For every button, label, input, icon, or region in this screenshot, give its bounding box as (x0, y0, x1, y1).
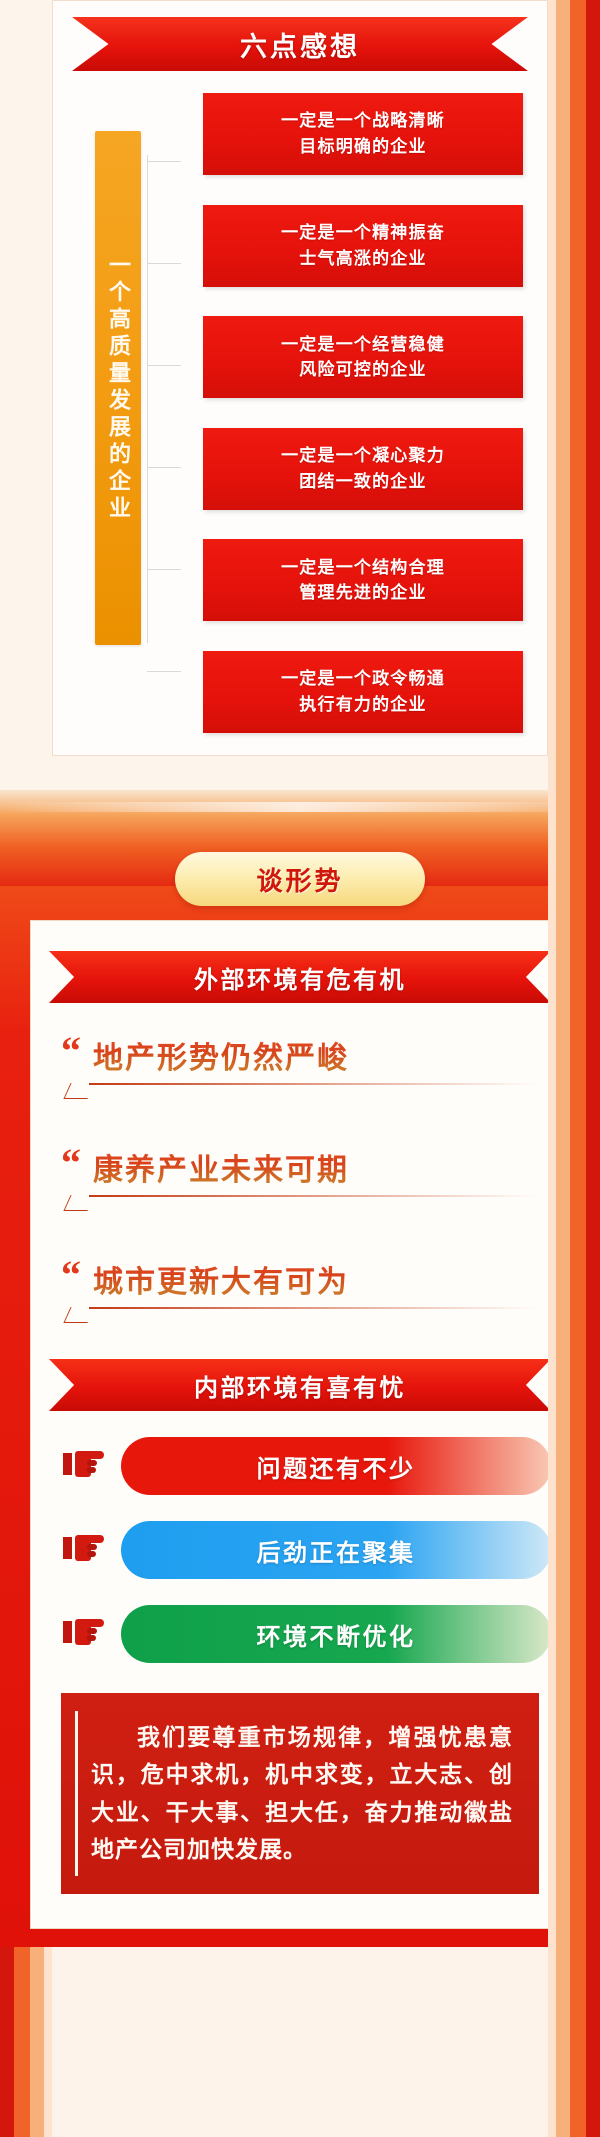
connector-twig-1 (147, 161, 181, 162)
reflection-item-list: 一定是一个战略清晰 目标明确的企业 一定是一个精神振奋 士气高涨的企业 一定是一… (199, 93, 523, 733)
reflection-item-line2: 风险可控的企业 (299, 360, 426, 380)
reflection-item-line2: 管理先进的企业 (299, 583, 426, 603)
pointing-hand-icon (63, 1615, 107, 1654)
quote-underline (63, 1307, 551, 1325)
banner-ribbon-shape: 六点感想 (72, 17, 528, 71)
quality-enterprise-tree: 一个高质量发展的企业 一定是一个战略清晰 目标明确的企业 (53, 93, 547, 733)
quote-mark-icon: “ (61, 1255, 81, 1295)
closing-statement-text: 我们要尊重市场规律，增强忧患意识，危中求机，机中求变，立大志、创大业、干大事、担… (91, 1719, 513, 1868)
section-one-title: 六点感想 (240, 25, 360, 64)
connector-twig-2 (147, 263, 181, 264)
quote-underline-bar (89, 1195, 537, 1197)
reflection-item[interactable]: 一定是一个政令畅通 执行有力的企业 (203, 651, 523, 733)
section-two-title: 谈形势 (256, 861, 343, 898)
internal-banner-shape: 内部环境有喜有忧 (49, 1359, 551, 1411)
section-situation: 谈形势 外部环境有危有机 “ 地产形势仍然严峻 (0, 886, 600, 1947)
tag-row: 问题还有不少 (49, 1437, 551, 1495)
external-banner-shape: 外部环境有危有机 (49, 951, 551, 1003)
quote-block: “ 康养产业未来可期 (49, 1125, 551, 1221)
quote-text: 地产形势仍然严峻 (93, 1033, 349, 1077)
quote-underline-hook (63, 1307, 94, 1323)
closing-statement-card: 我们要尊重市场规律，增强忧患意识，危中求机，机中求变，立大志、创大业、干大事、担… (61, 1693, 539, 1894)
section-six-reflections: 六点感想 一个高质量发展的企业 一定是一个战略清晰 (0, 0, 600, 790)
internal-environment-title: 内部环境有喜有忧 (194, 1368, 406, 1403)
reflection-item[interactable]: 一定是一个战略清晰 目标明确的企业 (203, 93, 523, 175)
quote-underline-bar (89, 1083, 537, 1085)
quote-text: 城市更新大有可为 (93, 1257, 349, 1301)
internal-environment-banner: 内部环境有喜有忧 (49, 1359, 551, 1411)
quote-mark-icon: “ (61, 1031, 81, 1071)
connector-twig-5 (147, 569, 181, 570)
pointing-hand-icon (63, 1531, 107, 1570)
quote-line: “ 地产形势仍然严峻 (61, 1033, 551, 1077)
section-two-pill-header: 谈形势 (175, 852, 425, 906)
quote-line: “ 城市更新大有可为 (61, 1257, 551, 1301)
divider-sheen (0, 802, 600, 812)
quote-underline (63, 1195, 551, 1213)
quote-line: “ 康养产业未来可期 (61, 1145, 551, 1189)
reflection-item-line2: 目标明确的企业 (299, 137, 426, 157)
reflection-item-line1: 一定是一个结构合理 (281, 558, 445, 578)
quote-underline (63, 1083, 551, 1101)
reflection-item-line2: 执行有力的企业 (299, 695, 426, 715)
pointing-hand-icon (63, 1447, 107, 1486)
external-environment-title: 外部环境有危有机 (194, 960, 406, 995)
connector-twig-6 (147, 671, 181, 672)
closing-accent-bar (75, 1711, 78, 1876)
connector-twig-3 (147, 365, 181, 366)
reflection-item-line1: 一定是一个战略清晰 (281, 111, 445, 131)
tag-row: 环境不断优化 (49, 1605, 551, 1663)
reflection-item-line2: 士气高涨的企业 (299, 249, 426, 269)
quote-block: “ 城市更新大有可为 (49, 1237, 551, 1333)
connector-twig-4 (147, 467, 181, 468)
tag-pill-environment[interactable]: 环境不断优化 (121, 1605, 551, 1663)
reflection-item[interactable]: 一定是一个精神振奋 士气高涨的企业 (203, 205, 523, 287)
reflection-item-line2: 团结一致的企业 (299, 472, 426, 492)
section-one-banner: 六点感想 (72, 17, 528, 71)
quote-underline-hook (63, 1083, 94, 1099)
tag-row: 后劲正在聚集 (49, 1521, 551, 1579)
vertical-label-quality-enterprise: 一个高质量发展的企业 (95, 131, 141, 645)
tree-connector-lines (141, 123, 199, 673)
quote-text: 康养产业未来可期 (93, 1145, 349, 1189)
quote-underline-bar (89, 1307, 537, 1309)
tag-pill-problems[interactable]: 问题还有不少 (121, 1437, 551, 1495)
reflection-item-line1: 一定是一个精神振奋 (281, 223, 445, 243)
section-two-panel: 外部环境有危有机 “ 地产形势仍然严峻 “ 康养产业未来可期 (30, 920, 570, 1929)
reflection-item-line1: 一定是一个凝心聚力 (281, 446, 445, 466)
section-one-panel: 六点感想 一个高质量发展的企业 一定是一个战略清晰 (52, 0, 548, 756)
quote-mark-icon: “ (61, 1143, 81, 1183)
reflection-item[interactable]: 一定是一个凝心聚力 团结一致的企业 (203, 428, 523, 510)
quote-underline-hook (63, 1195, 94, 1211)
reflection-item[interactable]: 一定是一个经营稳健 风险可控的企业 (203, 316, 523, 398)
external-environment-banner: 外部环境有危有机 (49, 951, 551, 1003)
quote-block: “ 地产形势仍然严峻 (49, 1013, 551, 1109)
infographic-page: 六点感想 一个高质量发展的企业 一定是一个战略清晰 (0, 0, 600, 2137)
reflection-item-line1: 一定是一个经营稳健 (281, 335, 445, 355)
reflection-item[interactable]: 一定是一个结构合理 管理先进的企业 (203, 539, 523, 621)
reflection-item-line1: 一定是一个政令畅通 (281, 669, 445, 689)
tag-pill-momentum[interactable]: 后劲正在聚集 (121, 1521, 551, 1579)
